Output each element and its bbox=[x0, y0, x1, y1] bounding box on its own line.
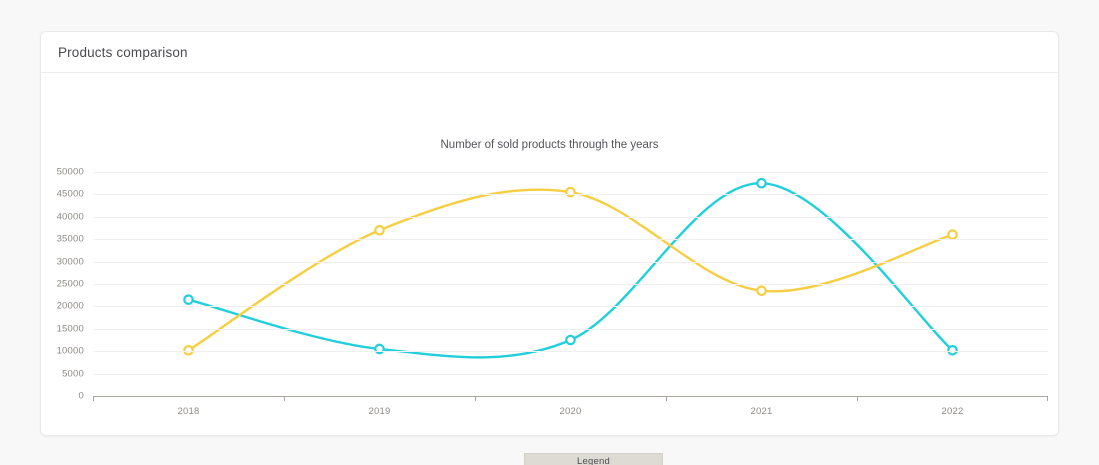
x-axis-tick-label: 2021 bbox=[751, 406, 773, 417]
x-axis-tick bbox=[1047, 396, 1048, 401]
products-comparison-card: Products comparison Number of sold produ… bbox=[40, 31, 1059, 436]
card-header: Products comparison bbox=[41, 32, 1058, 73]
series-line-product-a bbox=[189, 183, 953, 357]
y-axis-tick-label: 20000 bbox=[57, 301, 84, 312]
data-point-marker[interactable] bbox=[566, 336, 574, 344]
x-axis-tick bbox=[857, 396, 858, 401]
gridline bbox=[93, 374, 1048, 375]
x-axis-tick bbox=[475, 396, 476, 401]
gridline bbox=[93, 306, 1048, 307]
data-point-marker[interactable] bbox=[757, 179, 765, 187]
y-axis-tick-label: 30000 bbox=[57, 256, 84, 267]
y-axis-tick-label: 15000 bbox=[57, 323, 84, 334]
x-axis-tick-label: 2018 bbox=[178, 406, 200, 417]
chart-title: Number of sold products through the year… bbox=[41, 139, 1058, 151]
x-axis-tick-label: 2019 bbox=[369, 406, 391, 417]
x-axis-tick bbox=[93, 396, 94, 401]
gridline bbox=[93, 284, 1048, 285]
y-axis-tick-label: 45000 bbox=[57, 189, 84, 200]
y-axis-tick-label: 25000 bbox=[57, 279, 84, 290]
data-point-marker[interactable] bbox=[948, 231, 956, 239]
chart-legend: Legend Product AProduct B bbox=[524, 453, 663, 465]
gridline bbox=[93, 351, 1048, 352]
data-point-marker[interactable] bbox=[184, 295, 192, 303]
y-axis-tick-label: 5000 bbox=[62, 368, 84, 379]
gridline bbox=[93, 239, 1048, 240]
x-axis-line bbox=[93, 396, 1048, 397]
gridline bbox=[93, 172, 1048, 173]
y-axis-tick-label: 0 bbox=[79, 391, 84, 402]
series-line-product-b bbox=[189, 190, 953, 351]
x-axis-tick-label: 2020 bbox=[560, 406, 582, 417]
page-title: Products comparison bbox=[58, 45, 188, 60]
y-axis-tick-label: 10000 bbox=[57, 346, 84, 357]
y-axis-tick-label: 40000 bbox=[57, 211, 84, 222]
legend-title: Legend bbox=[531, 456, 656, 465]
data-point-marker[interactable] bbox=[375, 226, 383, 234]
gridline bbox=[93, 194, 1048, 195]
gridline bbox=[93, 262, 1048, 263]
gridline bbox=[93, 329, 1048, 330]
line-chart-plot-area: 0500010000150002000025000300003500040000… bbox=[93, 172, 1048, 396]
x-axis-tick bbox=[284, 396, 285, 401]
y-axis-tick-label: 35000 bbox=[57, 234, 84, 245]
y-axis-tick-label: 50000 bbox=[57, 167, 84, 178]
page-root: Products comparison Number of sold produ… bbox=[0, 0, 1099, 465]
data-point-marker[interactable] bbox=[757, 287, 765, 295]
gridline bbox=[93, 217, 1048, 218]
card-body: Number of sold products through the year… bbox=[41, 73, 1058, 435]
x-axis-tick-label: 2022 bbox=[942, 406, 964, 417]
x-axis-tick bbox=[666, 396, 667, 401]
